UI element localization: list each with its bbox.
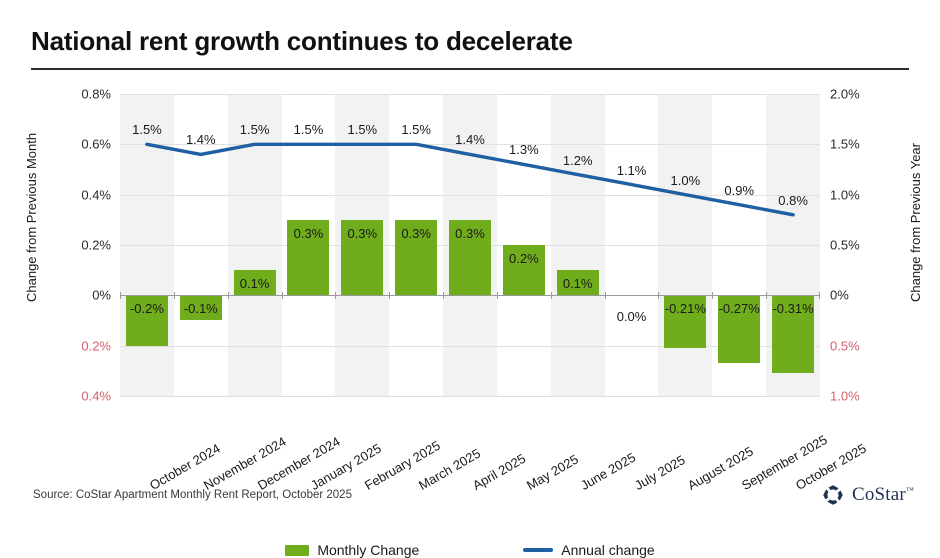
line-value-label: 1.4% <box>186 132 216 147</box>
bar-item[interactable]: 0.3% <box>389 94 443 396</box>
source-note: Source: CoStar Apartment Monthly Rent Re… <box>33 489 352 501</box>
left-axis-tick-label: 0.4% <box>81 187 111 202</box>
bar-value-label: 0.0% <box>605 309 659 324</box>
category-tick: April 2025 <box>443 478 497 548</box>
bar-value-label: 0.3% <box>443 226 497 241</box>
right-axis-title: Change from Previous Year <box>908 143 923 302</box>
bar-value-label: 0.3% <box>335 226 389 241</box>
bar-item[interactable]: 0.3% <box>335 94 389 396</box>
costar-logo: CoStar™ <box>821 483 914 507</box>
left-axis-tick-label: 0.2% <box>81 338 111 353</box>
line-value-label: 1.5% <box>294 122 324 137</box>
bar-item[interactable]: 0.1% <box>228 94 282 396</box>
gridline <box>120 396 820 397</box>
bar-value-label: -0.2% <box>120 301 174 316</box>
bar-value-label: -0.27% <box>712 301 766 316</box>
legend-item[interactable]: Monthly Change <box>285 542 419 558</box>
left-axis-tick-label: 0.8% <box>81 87 111 102</box>
bar-item[interactable]: 0.0% <box>605 94 659 396</box>
category-tick: July 2025 <box>605 478 659 548</box>
line-value-label: 0.9% <box>724 183 754 198</box>
bar-value-label: 0.1% <box>228 276 282 291</box>
right-axis-tick-label: 1.0% <box>830 187 860 202</box>
bar-item[interactable]: -0.31% <box>766 94 820 396</box>
bar-item[interactable]: 0.3% <box>282 94 336 396</box>
bar-value-label: -0.1% <box>174 301 228 316</box>
right-axis-tick-label: 1.0% <box>830 389 860 404</box>
right-axis-tick-label: 0% <box>830 288 849 303</box>
left-axis-tick-label: 0.6% <box>81 137 111 152</box>
category-tick: October 2025 <box>766 478 820 548</box>
bar-value-label: 0.3% <box>282 226 336 241</box>
legend-label: Monthly Change <box>317 542 419 558</box>
zero-axis-line <box>120 295 820 296</box>
bar-value-label: 0.1% <box>551 276 605 291</box>
category-tick: August 2025 <box>658 478 712 548</box>
line-value-label: 1.5% <box>347 122 377 137</box>
legend-bar-swatch <box>285 545 309 556</box>
title-divider <box>31 68 909 70</box>
line-value-label: 1.5% <box>132 122 162 137</box>
chart-legend: Monthly ChangeAnnual change <box>0 542 940 558</box>
line-value-label: 1.3% <box>509 142 539 157</box>
line-value-label: 0.8% <box>778 193 808 208</box>
page-title: National rent growth continues to decele… <box>31 26 573 57</box>
bar-value-label: -0.31% <box>766 301 820 316</box>
line-value-label: 1.1% <box>617 163 647 178</box>
category-tick: June 2025 <box>551 478 605 548</box>
bar-item[interactable]: -0.21% <box>658 94 712 396</box>
category-tick: March 2025 <box>389 478 443 548</box>
category-tick: September 2025 <box>712 478 766 548</box>
legend-line-swatch <box>523 548 553 552</box>
bar-item[interactable]: -0.27% <box>712 94 766 396</box>
left-axis-tick-label: 0.4% <box>81 389 111 404</box>
left-axis-tick-label: 0.2% <box>81 238 111 253</box>
line-value-label: 1.5% <box>240 122 270 137</box>
bar-item[interactable]: 0.1% <box>551 94 605 396</box>
left-axis-title: Change from Previous Month <box>24 133 39 302</box>
line-value-label: 1.5% <box>401 122 431 137</box>
bar-item[interactable]: 0.2% <box>497 94 551 396</box>
line-value-label: 1.0% <box>671 173 701 188</box>
category-tick: May 2025 <box>497 478 551 548</box>
line-value-label: 1.2% <box>563 153 593 168</box>
chart-container: Change from Previous Month Change from P… <box>0 80 940 480</box>
left-axis-tick-label: 0% <box>92 288 111 303</box>
line-value-label: 1.4% <box>455 132 485 147</box>
bar-value-label: 0.3% <box>389 226 443 241</box>
plot-area: -0.2%-0.1%0.1%0.3%0.3%0.3%0.3%0.2%0.1%0.… <box>120 94 820 396</box>
legend-label: Annual change <box>561 542 654 558</box>
right-axis-tick-label: 0.5% <box>830 238 860 253</box>
bar-value-label: -0.21% <box>658 301 712 316</box>
chart-page: National rent growth continues to decele… <box>0 0 940 529</box>
trademark-symbol: ™ <box>906 486 914 495</box>
legend-item[interactable]: Annual change <box>523 542 654 558</box>
logo-wordmark: CoStar™ <box>852 484 914 506</box>
bar-value-label: 0.2% <box>497 251 551 266</box>
right-axis-tick-label: 2.0% <box>830 87 860 102</box>
right-axis-tick-label: 1.5% <box>830 137 860 152</box>
costar-pinwheel-icon <box>821 483 845 507</box>
right-axis-tick-label: 0.5% <box>830 338 860 353</box>
bar-item[interactable]: -0.2% <box>120 94 174 396</box>
